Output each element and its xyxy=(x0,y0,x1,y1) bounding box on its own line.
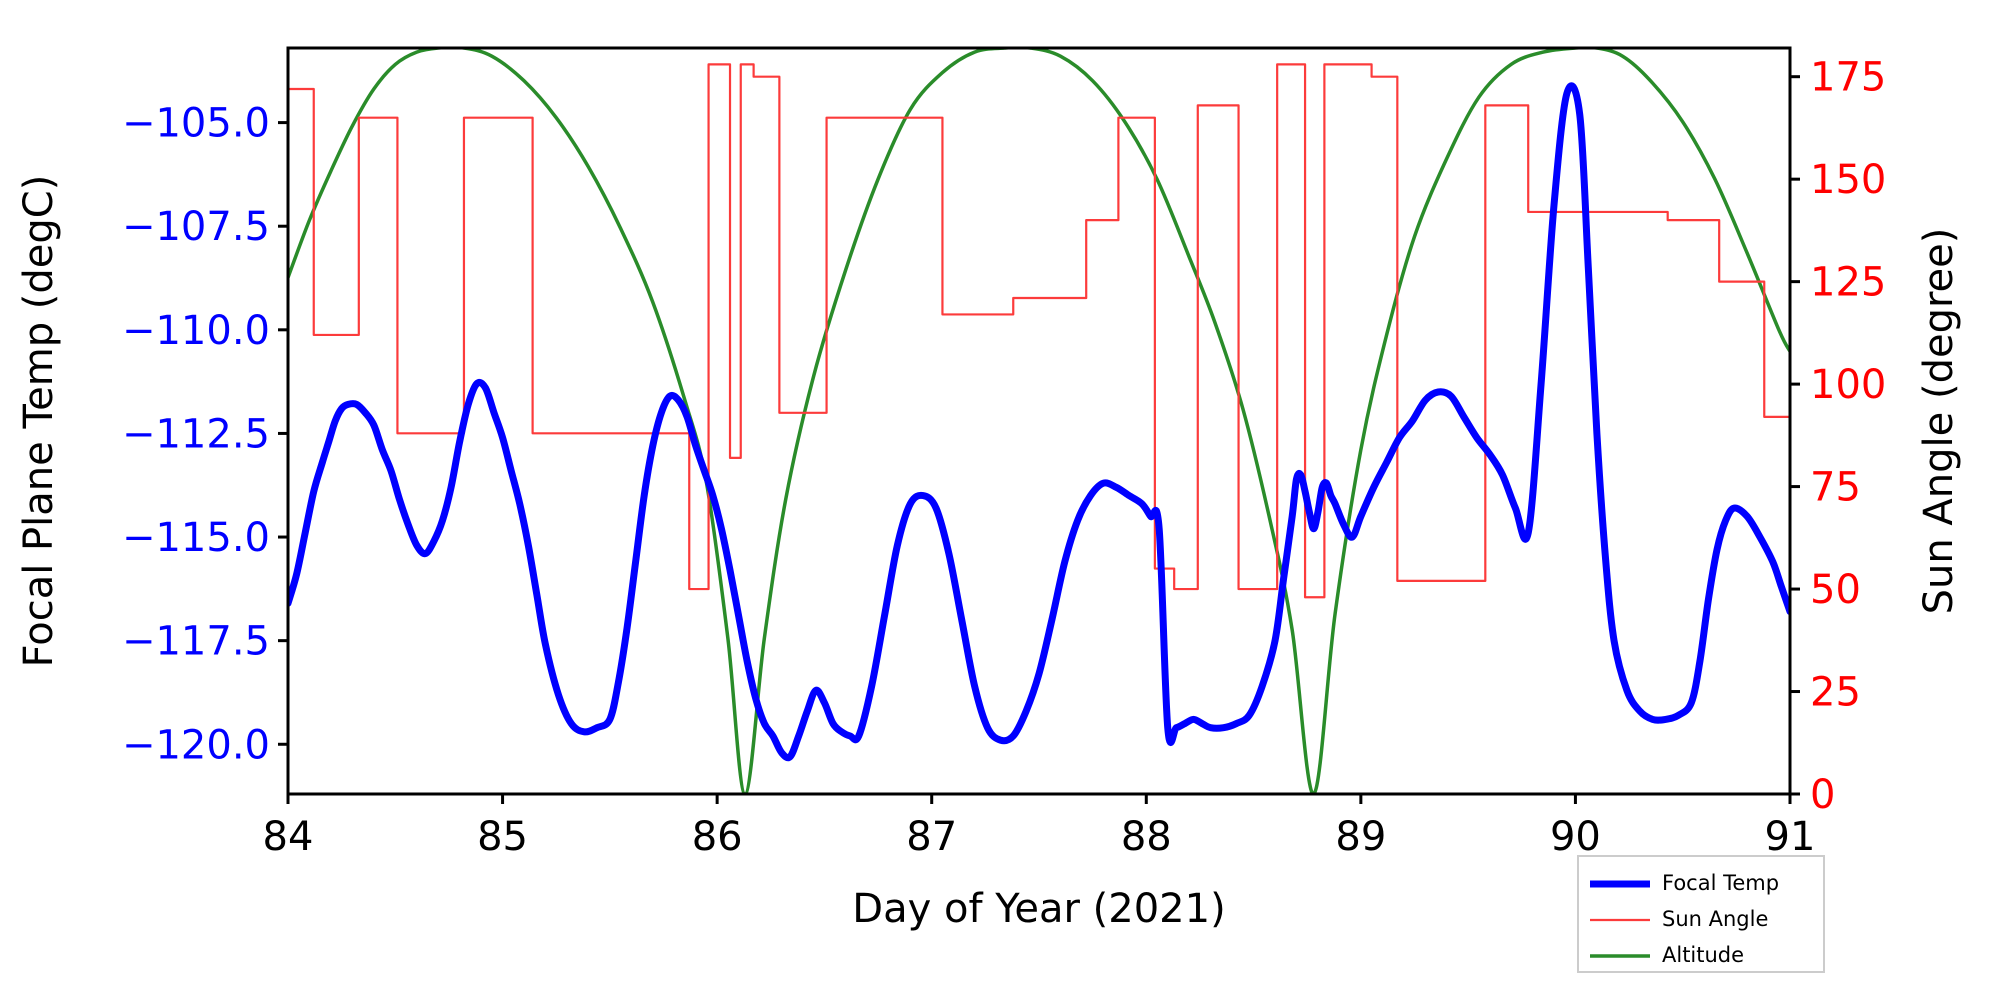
y-left-tick-label: −110.0 xyxy=(122,308,270,354)
x-tick-label: 86 xyxy=(692,814,743,860)
chart-root: 8485868788899091−105.0−107.5−110.0−112.5… xyxy=(0,0,2000,1000)
x-tick-label: 88 xyxy=(1121,814,1172,860)
y-right-tick-label: 25 xyxy=(1810,670,1861,716)
chart-canvas: 8485868788899091−105.0−107.5−110.0−112.5… xyxy=(0,0,2000,1000)
y-right-tick-label: 100 xyxy=(1810,362,1886,408)
y-right-tick-label: 50 xyxy=(1810,567,1861,613)
y-right-tick-label: 175 xyxy=(1810,55,1886,101)
legend-label-sun-angle: Sun Angle xyxy=(1662,907,1768,931)
y-left-tick-label: −112.5 xyxy=(122,411,270,457)
y-left-tick-label: −107.5 xyxy=(122,204,270,250)
y-right-tick-label: 0 xyxy=(1810,772,1835,818)
y-right-tick-label: 150 xyxy=(1810,157,1886,203)
matplotlib-figure: 8485868788899091−105.0−107.5−110.0−112.5… xyxy=(0,0,2000,1000)
legend-label-focal-temp: Focal Temp xyxy=(1662,871,1779,895)
x-tick-label: 89 xyxy=(1335,814,1386,860)
y-left-tick-label: −117.5 xyxy=(122,619,270,665)
x-tick-label: 90 xyxy=(1550,814,1601,860)
y-axis-label-right: Sun Angle (degree) xyxy=(1916,228,1962,615)
legend-label-altitude: Altitude xyxy=(1662,943,1744,967)
y-axis-label-left: Focal Plane Temp (degC) xyxy=(16,175,62,668)
y-right-tick-label: 125 xyxy=(1810,260,1886,306)
legend[interactable]: Focal TempSun AngleAltitude xyxy=(1578,856,1824,972)
y-left-tick-label: −105.0 xyxy=(122,101,270,147)
y-right-tick-label: 75 xyxy=(1810,465,1861,511)
x-axis-label: Day of Year (2021) xyxy=(852,886,1225,932)
y-left-tick-label: −115.0 xyxy=(122,515,270,561)
x-tick-label: 85 xyxy=(477,814,528,860)
y-left-tick-label: −120.0 xyxy=(122,722,270,768)
x-tick-label: 91 xyxy=(1765,814,1816,860)
x-tick-label: 84 xyxy=(263,814,314,860)
x-tick-label: 87 xyxy=(906,814,957,860)
